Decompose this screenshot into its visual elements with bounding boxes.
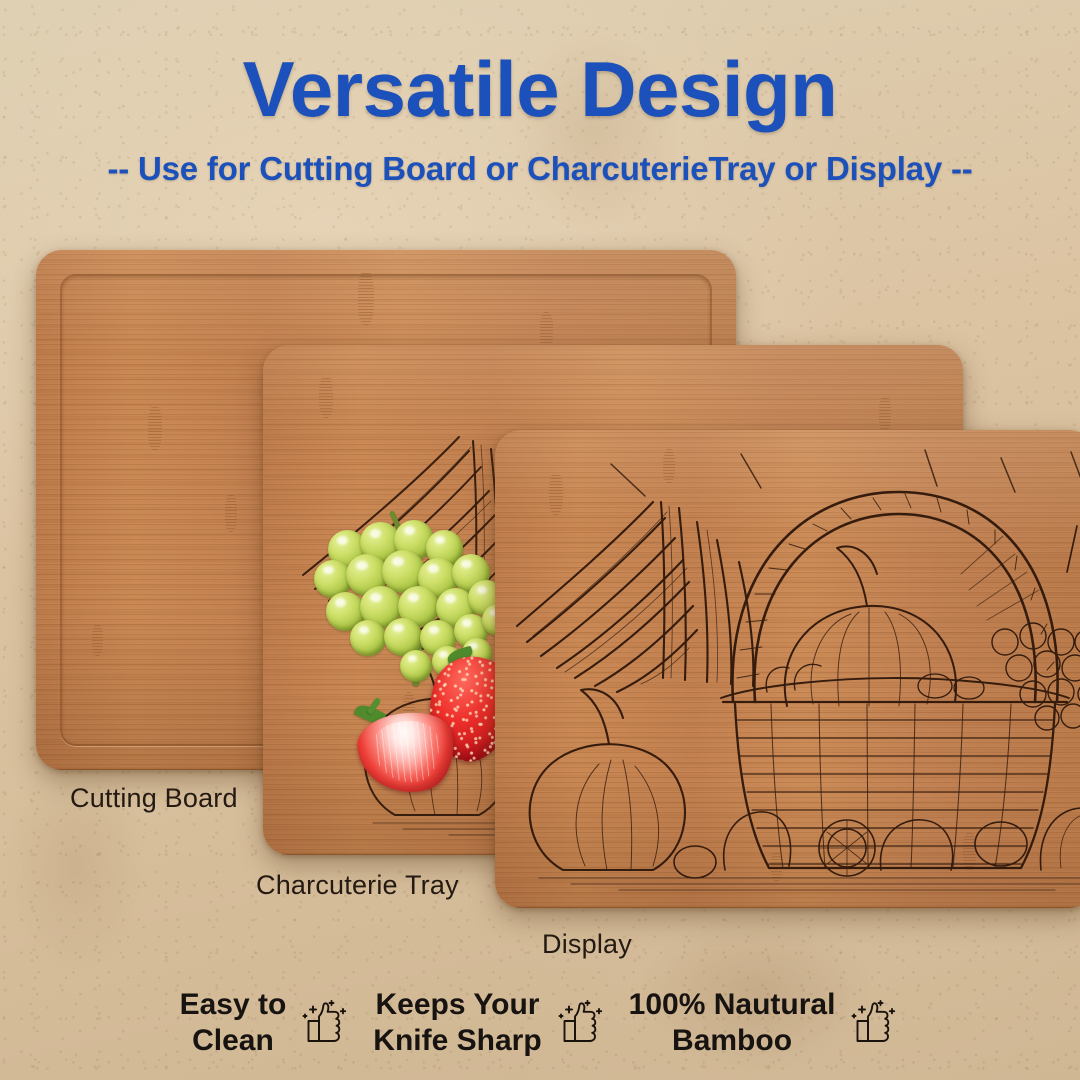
page-subtitle: -- Use for Cutting Board or CharcuterieT… bbox=[0, 150, 1080, 188]
feature-line-1: Keeps Your bbox=[373, 987, 541, 1022]
feature-line-2: Knife Sharp bbox=[373, 1023, 541, 1058]
thumbs-up-sparkle-icon bbox=[299, 997, 351, 1049]
caption-charcuterie-tray: Charcuterie Tray bbox=[256, 870, 459, 901]
feature-keeps-knife-sharp: Keeps Your Knife Sharp bbox=[373, 987, 606, 1058]
feature-easy-to-clean: Easy to Clean bbox=[180, 987, 352, 1058]
feature-label-easy-to-clean: Easy to Clean bbox=[180, 987, 287, 1058]
feature-line-1: 100% Nautural bbox=[629, 987, 836, 1022]
bamboo-flecks-c bbox=[495, 430, 1080, 908]
page-title: Versatile Design bbox=[0, 44, 1080, 135]
product-marketing-image: Versatile Design -- Use for Cutting Boar… bbox=[0, 0, 1080, 1080]
board-display bbox=[495, 430, 1080, 908]
feature-label-natural-bamboo: 100% Nautural Bamboo bbox=[629, 987, 836, 1058]
feature-label-keeps-knife-sharp: Keeps Your Knife Sharp bbox=[373, 987, 541, 1058]
feature-line-1: Easy to bbox=[180, 987, 287, 1022]
feature-line-2: Bamboo bbox=[629, 1023, 836, 1058]
thumbs-up-sparkle-icon bbox=[848, 997, 900, 1049]
feature-natural-bamboo: 100% Nautural Bamboo bbox=[629, 987, 901, 1058]
caption-display: Display bbox=[542, 929, 632, 960]
feature-line-2: Clean bbox=[180, 1023, 287, 1058]
feature-row: Easy to Clean Keeps Your bbox=[0, 987, 1080, 1058]
thumbs-up-sparkle-icon bbox=[555, 997, 607, 1049]
caption-cutting-board: Cutting Board bbox=[70, 783, 238, 814]
